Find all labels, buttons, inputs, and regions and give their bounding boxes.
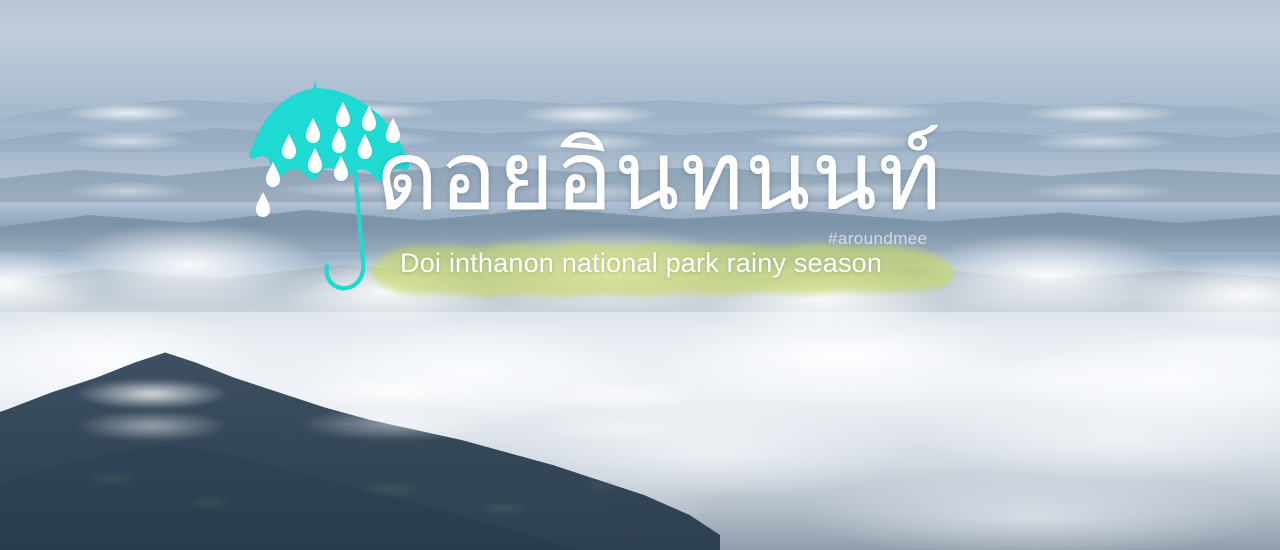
raindrop-icon [256,192,270,217]
banner-overlay: #aroundmee ดอยอินทนนท์ Doi inthanon nati… [0,0,1280,550]
page-subtitle: Doi inthanon national park rainy season [400,250,882,277]
page-title: ดอยอินทนนท์ [376,128,942,224]
travel-banner: #aroundmee ดอยอินทนนท์ Doi inthanon nati… [0,0,1280,550]
hashtag-label: #aroundmee [828,230,927,247]
